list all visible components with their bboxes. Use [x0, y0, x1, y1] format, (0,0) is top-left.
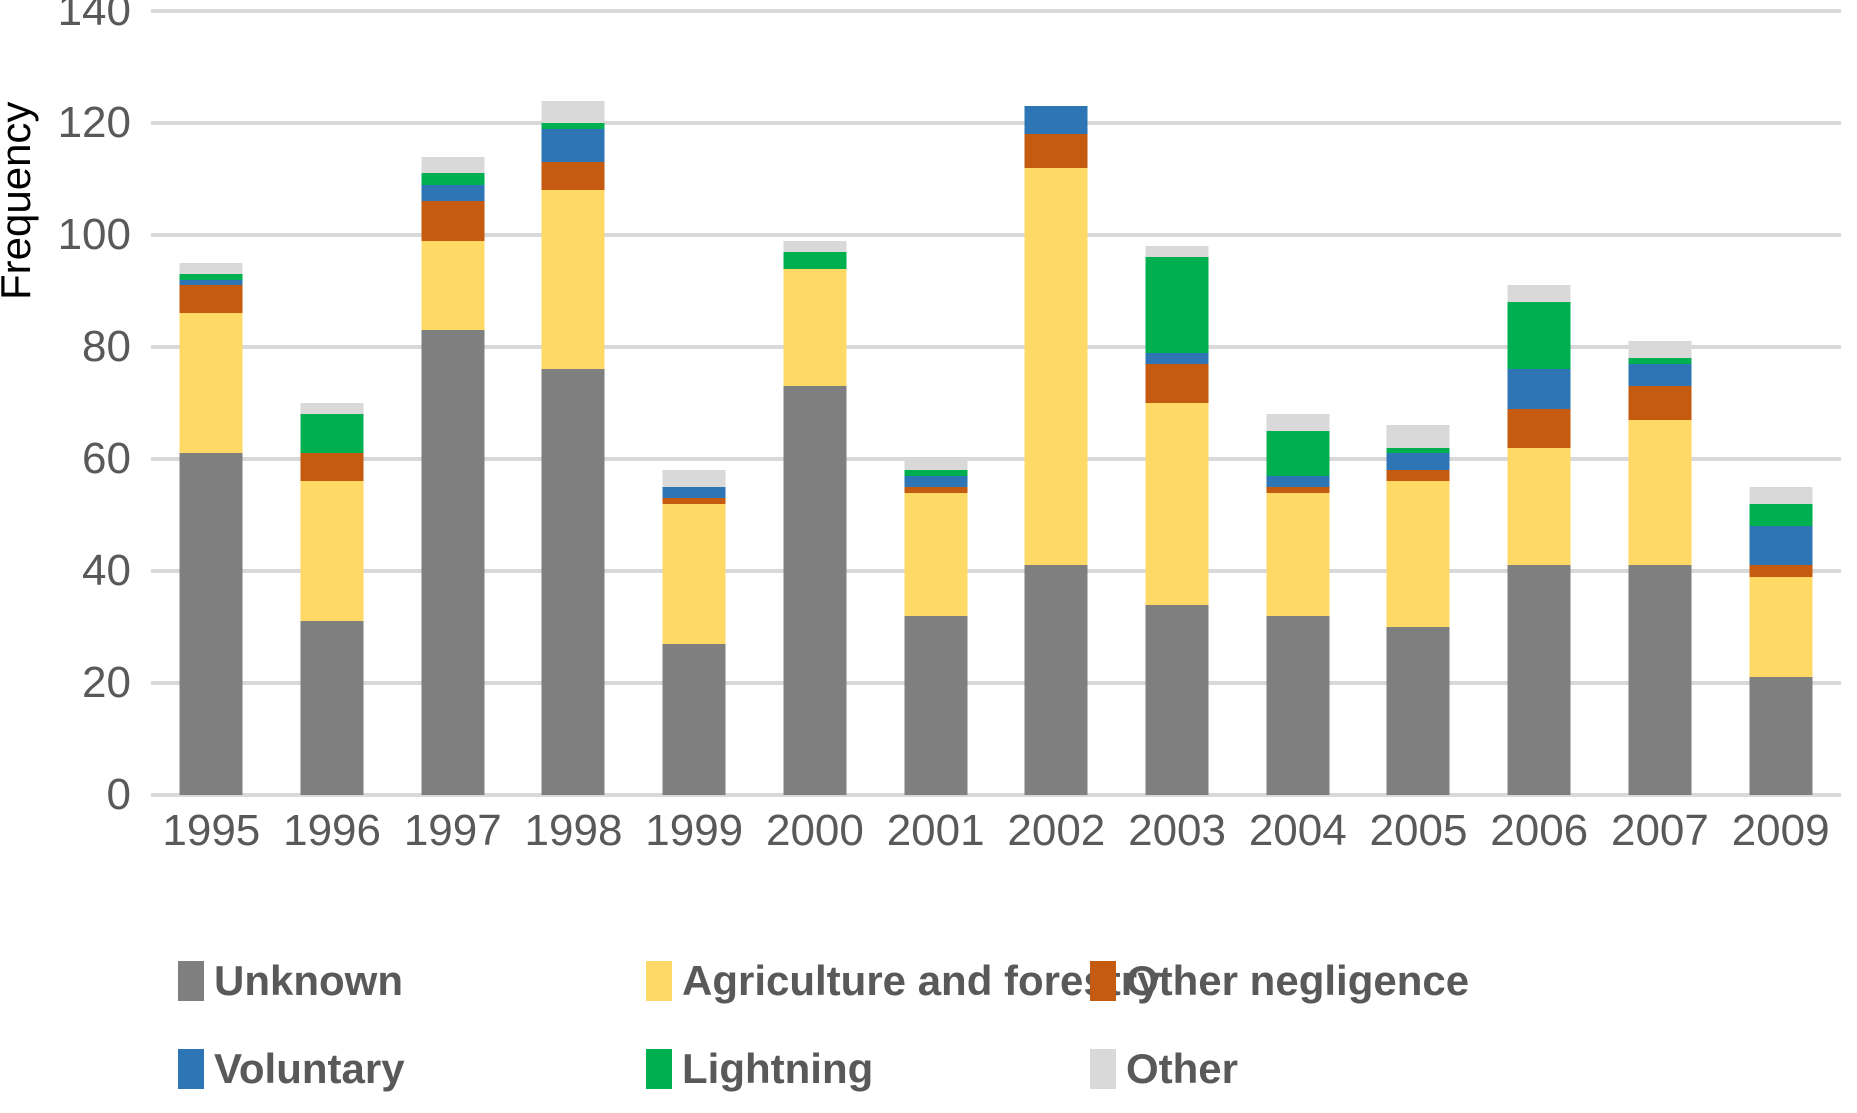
- legend-swatch-icon: [178, 1049, 204, 1089]
- bar-segment-agriculture-and-forestry[interactable]: [1146, 403, 1209, 605]
- bar-segment-voluntary[interactable]: [542, 129, 605, 163]
- stacked-bar[interactable]: [1628, 341, 1691, 795]
- bar-segment-voluntary[interactable]: [1508, 369, 1571, 408]
- bar-group-2009[interactable]: [1720, 11, 1841, 795]
- bar-segment-lightning[interactable]: [1508, 302, 1571, 369]
- bar-segment-agriculture-and-forestry[interactable]: [542, 190, 605, 369]
- bar-segment-unknown[interactable]: [421, 330, 484, 795]
- stacked-bar[interactable]: [1266, 414, 1329, 795]
- bar-group-1999[interactable]: [634, 11, 755, 795]
- bar-segment-lightning[interactable]: [421, 173, 484, 184]
- x-axis-tick-2001: 2001: [887, 806, 985, 856]
- bar-segment-voluntary[interactable]: [904, 476, 967, 487]
- bar-segment-agriculture-and-forestry[interactable]: [421, 241, 484, 331]
- legend-item-lightning[interactable]: Lightning: [646, 1048, 873, 1090]
- bar-segment-other-negligence[interactable]: [542, 162, 605, 190]
- stacked-bar[interactable]: [904, 459, 967, 795]
- bar-segment-agriculture-and-forestry[interactable]: [301, 481, 364, 621]
- legend-label: Lightning: [682, 1048, 873, 1090]
- stacked-bar[interactable]: [180, 263, 243, 795]
- bar-segment-agriculture-and-forestry[interactable]: [1508, 448, 1571, 566]
- x-axis-tick-2003: 2003: [1128, 806, 1226, 856]
- legend-swatch-icon: [1090, 961, 1116, 1001]
- x-axis-tick-1999: 1999: [645, 806, 743, 856]
- bar-group-2003[interactable]: [1117, 11, 1238, 795]
- bar-segment-other[interactable]: [663, 470, 726, 487]
- y-axis-tick-0: 0: [0, 773, 131, 817]
- stacked-bar[interactable]: [783, 241, 846, 795]
- x-axis-tick-labels: 1995199619971998199920002001200220032004…: [151, 806, 1841, 866]
- bar-segment-unknown[interactable]: [1628, 565, 1691, 795]
- stacked-bar[interactable]: [1146, 246, 1209, 795]
- bar-group-2001[interactable]: [875, 11, 996, 795]
- bar-group-1997[interactable]: [392, 11, 513, 795]
- legend-swatch-icon: [646, 1049, 672, 1089]
- bar-segment-unknown[interactable]: [1025, 565, 1088, 795]
- legend-item-voluntary[interactable]: Voluntary: [178, 1048, 405, 1090]
- stacked-bar[interactable]: [421, 157, 484, 795]
- y-axis-tick-labels: 020406080100120140: [0, 0, 131, 795]
- bar-segment-voluntary[interactable]: [663, 487, 726, 498]
- bar-segment-other[interactable]: [1628, 341, 1691, 358]
- x-axis-tick-2007: 2007: [1611, 806, 1709, 856]
- bar-segment-agriculture-and-forestry[interactable]: [180, 313, 243, 453]
- x-axis-tick-2005: 2005: [1370, 806, 1468, 856]
- bar-segment-other-negligence[interactable]: [1749, 565, 1812, 576]
- bar-group-1998[interactable]: [513, 11, 634, 795]
- bar-segment-voluntary[interactable]: [1749, 526, 1812, 565]
- legend-swatch-icon: [1090, 1049, 1116, 1089]
- bar-segment-voluntary[interactable]: [1266, 476, 1329, 487]
- plot-bars: [151, 11, 1841, 795]
- bar-segment-other[interactable]: [180, 263, 243, 274]
- bar-segment-agriculture-and-forestry[interactable]: [783, 269, 846, 387]
- bar-segment-other[interactable]: [783, 241, 846, 252]
- y-axis-tick-100: 100: [0, 213, 131, 257]
- bar-segment-other[interactable]: [904, 459, 967, 470]
- bar-segment-voluntary[interactable]: [1146, 353, 1209, 364]
- legend-item-unknown[interactable]: Unknown: [178, 960, 403, 1002]
- bar-group-1995[interactable]: [151, 11, 272, 795]
- stacked-bar[interactable]: [663, 470, 726, 795]
- bar-segment-unknown[interactable]: [1266, 616, 1329, 795]
- bar-segment-lightning[interactable]: [1266, 431, 1329, 476]
- bar-segment-other[interactable]: [421, 157, 484, 174]
- bar-segment-agriculture-and-forestry[interactable]: [1628, 420, 1691, 566]
- y-axis-tick-60: 60: [0, 437, 131, 481]
- bar-segment-lightning[interactable]: [783, 252, 846, 269]
- bar-segment-other[interactable]: [1146, 246, 1209, 257]
- bar-segment-voluntary[interactable]: [421, 185, 484, 202]
- legend-item-other[interactable]: Other: [1090, 1048, 1238, 1090]
- stacked-bar[interactable]: [1025, 106, 1088, 795]
- bar-segment-unknown[interactable]: [1508, 565, 1571, 795]
- legend-swatch-icon: [178, 961, 204, 1001]
- bar-segment-agriculture-and-forestry[interactable]: [1387, 481, 1450, 627]
- bar-group-2007[interactable]: [1600, 11, 1721, 795]
- x-axis-tick-2002: 2002: [1007, 806, 1105, 856]
- bar-segment-unknown[interactable]: [542, 369, 605, 795]
- bar-segment-other-negligence[interactable]: [1628, 386, 1691, 420]
- bar-segment-unknown[interactable]: [301, 621, 364, 795]
- bar-group-2005[interactable]: [1358, 11, 1479, 795]
- bar-segment-agriculture-and-forestry[interactable]: [663, 504, 726, 644]
- bar-segment-unknown[interactable]: [1146, 605, 1209, 795]
- y-axis-tick-20: 20: [0, 661, 131, 705]
- bar-segment-agriculture-and-forestry[interactable]: [1025, 168, 1088, 566]
- bar-segment-other-negligence[interactable]: [1146, 364, 1209, 403]
- bar-segment-lightning[interactable]: [1749, 504, 1812, 526]
- stacked-bar[interactable]: [1508, 285, 1571, 795]
- bar-group-2000[interactable]: [755, 11, 876, 795]
- stacked-bar[interactable]: [301, 403, 364, 795]
- stacked-bar[interactable]: [1749, 487, 1812, 795]
- x-axis-tick-2004: 2004: [1249, 806, 1347, 856]
- x-axis-tick-1998: 1998: [525, 806, 623, 856]
- bar-group-2002[interactable]: [996, 11, 1117, 795]
- bar-group-2006[interactable]: [1479, 11, 1600, 795]
- x-axis-tick-2006: 2006: [1490, 806, 1588, 856]
- stacked-bar[interactable]: [1387, 425, 1450, 795]
- x-axis-tick-2009: 2009: [1732, 806, 1830, 856]
- legend-label: Other: [1126, 1048, 1238, 1090]
- bar-segment-lightning[interactable]: [1146, 257, 1209, 352]
- chart-legend: UnknownAgriculture and forestryOther neg…: [178, 960, 1678, 1105]
- bar-segment-other[interactable]: [301, 403, 364, 414]
- chart-canvas: Frequency 020406080100120140 19951996199…: [0, 0, 1857, 1113]
- y-axis-tick-140: 140: [0, 0, 131, 33]
- bar-segment-voluntary[interactable]: [1628, 364, 1691, 386]
- bar-segment-other-negligence[interactable]: [1387, 470, 1450, 481]
- bar-group-2004[interactable]: [1237, 11, 1358, 795]
- bar-segment-voluntary[interactable]: [1025, 106, 1088, 134]
- x-axis-tick-1995: 1995: [162, 806, 260, 856]
- bar-segment-agriculture-and-forestry[interactable]: [904, 493, 967, 616]
- stacked-bar[interactable]: [542, 101, 605, 795]
- bar-segment-other[interactable]: [1387, 425, 1450, 447]
- legend-label: Voluntary: [214, 1048, 405, 1090]
- y-axis-tick-120: 120: [0, 101, 131, 145]
- bar-segment-agriculture-and-forestry[interactable]: [1266, 493, 1329, 616]
- legend-label: Agriculture and forestry: [682, 960, 1160, 1002]
- bar-segment-unknown[interactable]: [1387, 627, 1450, 795]
- legend-swatch-icon: [646, 961, 672, 1001]
- bar-segment-other[interactable]: [542, 101, 605, 123]
- bar-segment-other[interactable]: [1749, 487, 1812, 504]
- bar-segment-voluntary[interactable]: [1387, 453, 1450, 470]
- y-axis-tick-40: 40: [0, 549, 131, 593]
- y-axis-tick-80: 80: [0, 325, 131, 369]
- bar-segment-unknown[interactable]: [783, 386, 846, 795]
- legend-label: Unknown: [214, 960, 403, 1002]
- bar-segment-other-negligence[interactable]: [180, 285, 243, 313]
- bar-group-1996[interactable]: [272, 11, 393, 795]
- legend-item-other-negligence[interactable]: Other negligence: [1090, 960, 1469, 1002]
- x-axis-tick-2000: 2000: [766, 806, 864, 856]
- bar-segment-unknown[interactable]: [1749, 677, 1812, 795]
- bar-segment-unknown[interactable]: [663, 644, 726, 795]
- x-axis-tick-1997: 1997: [404, 806, 502, 856]
- legend-item-agriculture-and-forestry[interactable]: Agriculture and forestry: [646, 960, 1160, 1002]
- bar-segment-other[interactable]: [1508, 285, 1571, 302]
- bar-segment-unknown[interactable]: [904, 616, 967, 795]
- bar-segment-other-negligence[interactable]: [421, 201, 484, 240]
- bar-segment-other-negligence[interactable]: [1025, 134, 1088, 168]
- bar-segment-agriculture-and-forestry[interactable]: [1749, 577, 1812, 678]
- bar-segment-other-negligence[interactable]: [301, 453, 364, 481]
- bar-segment-other[interactable]: [1266, 414, 1329, 431]
- x-axis-tick-1996: 1996: [283, 806, 381, 856]
- bar-segment-unknown[interactable]: [180, 453, 243, 795]
- bar-segment-lightning[interactable]: [301, 414, 364, 453]
- legend-label: Other negligence: [1126, 960, 1469, 1002]
- bar-segment-other-negligence[interactable]: [1508, 409, 1571, 448]
